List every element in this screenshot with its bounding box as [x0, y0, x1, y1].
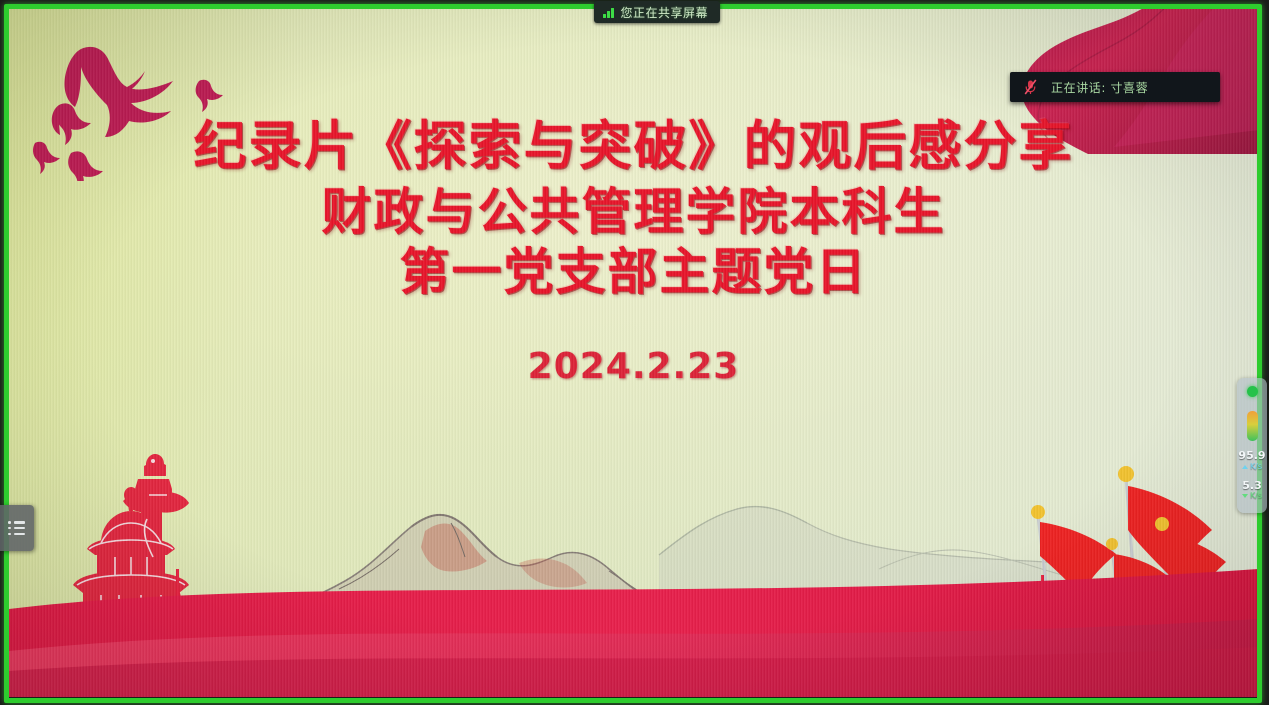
- list-menu-icon: [8, 521, 26, 535]
- slide-title-line-3: 第一党支部主题党日: [69, 244, 1198, 300]
- download-speed-unit: K/s: [1242, 492, 1262, 500]
- upload-speed-value: 95.9: [1238, 450, 1265, 462]
- sidebar-menu-tab[interactable]: [0, 505, 34, 551]
- red-wave-icon: [9, 547, 1258, 697]
- thermometer-icon: [1247, 411, 1258, 441]
- screen-sharing-banner[interactable]: 您正在共享屏幕: [594, 1, 720, 23]
- projected-screen-photo: 纪录片《探索与突破》的观后感分享 财政与公共管理学院本科生 第一党支部主题党日 …: [0, 0, 1269, 705]
- signal-bars-icon: [603, 7, 614, 18]
- status-dot-icon: [1247, 386, 1258, 397]
- download-speed: 5.3 K/s: [1242, 480, 1262, 501]
- active-speaker-label: 正在讲话: 寸喜蓉: [1051, 79, 1148, 96]
- slide-title-line-1: 纪录片《探索与突破》的观后感分享: [69, 117, 1198, 176]
- upload-speed-unit: K/s: [1238, 463, 1265, 471]
- upload-speed: 95.9 K/s: [1238, 450, 1265, 471]
- network-speed-widget[interactable]: 95.9 K/s 5.3 K/s: [1237, 378, 1267, 513]
- screen-sharing-label: 您正在共享屏幕: [621, 4, 709, 21]
- microphone-muted-icon: [1024, 79, 1037, 95]
- slide-date: 2024.2.23: [69, 346, 1198, 387]
- slide-title-line-2: 财政与公共管理学院本科生: [69, 184, 1198, 240]
- slide-text-block: 纪录片《探索与突破》的观后感分享 财政与公共管理学院本科生 第一党支部主题党日 …: [9, 117, 1258, 387]
- presentation-slide: 纪录片《探索与突破》的观后感分享 财政与公共管理学院本科生 第一党支部主题党日 …: [9, 9, 1258, 697]
- download-speed-value: 5.3: [1242, 480, 1262, 492]
- active-speaker-overlay[interactable]: 正在讲话: 寸喜蓉: [1010, 72, 1220, 102]
